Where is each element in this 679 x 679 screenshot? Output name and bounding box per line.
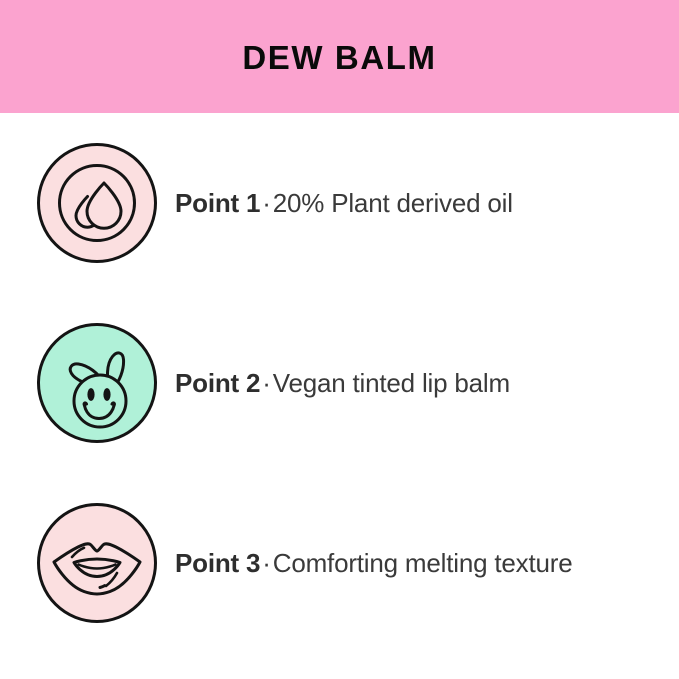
point-1-separator: · [260,188,272,218]
water-drop-icon [40,146,154,260]
point-2-icon-circle [37,323,157,443]
point-2-label: Point 2 [175,368,260,398]
list-item: Point 2·Vegan tinted lip balm [37,323,657,443]
point-2-text: Point 2·Vegan tinted lip balm [175,369,510,398]
point-1-description: 20% Plant derived oil [273,188,513,218]
page-title: DEW BALM [242,41,436,74]
point-1-label: Point 1 [175,188,260,218]
smiling-lips-icon [40,506,154,620]
header-banner: DEW BALM [0,0,679,113]
list-item: Point 3·Comforting melting texture [37,503,657,623]
list-item: Point 1·20% Plant derived oil [37,143,657,263]
point-3-icon-circle [37,503,157,623]
point-1-text: Point 1·20% Plant derived oil [175,189,513,218]
product-feature-card: DEW BALM Point 1·20% Plant derived oil [0,0,679,679]
bunny-smiley-icon [40,326,154,440]
point-3-description: Comforting melting texture [273,548,573,578]
point-2-description: Vegan tinted lip balm [273,368,510,398]
point-3-text: Point 3·Comforting melting texture [175,549,572,578]
point-1-icon-circle [37,143,157,263]
point-2-separator: · [260,368,272,398]
point-3-separator: · [260,548,272,578]
points-list: Point 1·20% Plant derived oil [0,113,679,679]
point-3-label: Point 3 [175,548,260,578]
